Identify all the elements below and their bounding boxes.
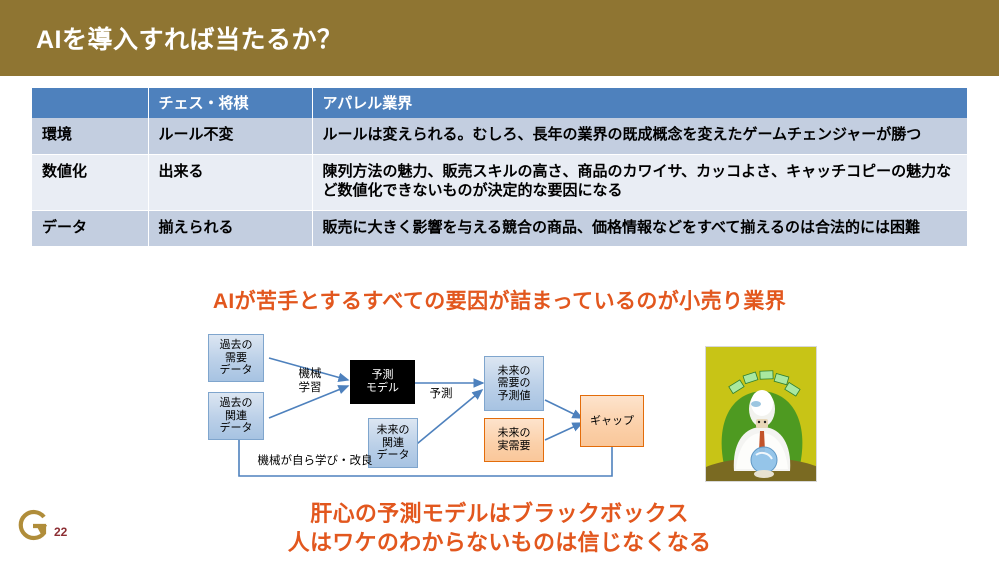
diagram-node-future-demand-forecast: 未来の 需要の 予測値 xyxy=(484,356,544,411)
emphasis-bottom-line1: 肝心の予測モデルはブラックボックス xyxy=(0,500,999,529)
table-row: 数値化 出来る 陳列方法の魅力、販売スキルの高さ、商品のカワイサ、カッコよさ、キ… xyxy=(32,154,967,210)
company-logo-icon xyxy=(14,508,50,542)
table-header-cell-blank xyxy=(32,88,148,118)
slide-canvas: AIを導入すれば当たるか？ チェス・将棋 アパレル業界 環境 ルール不変 ルール… xyxy=(0,0,999,561)
table-body: 環境 ルール不変 ルールは変えられる。むしろ、長年の業界の既成概念を変えたゲーム… xyxy=(32,118,967,247)
table-header: チェス・将棋 アパレル業界 xyxy=(32,88,967,118)
table-cell-apparel: 販売に大きく影響を与える競合の商品、価格情報などをすべて揃えるのは合法的には困難 xyxy=(312,210,967,247)
slide-title-bar: AIを導入すれば当たるか？ xyxy=(0,0,999,76)
clipart-illustration xyxy=(706,347,817,482)
diagram-label-prediction: 予測 xyxy=(424,388,458,402)
table-cell-apparel: 陳列方法の魅力、販売スキルの高さ、商品のカワイサ、カッコよさ、キャッチコピーの魅… xyxy=(312,154,967,210)
table-header-row: チェス・将棋 アパレル業界 xyxy=(32,88,967,118)
table-cell-chess: ルール不変 xyxy=(148,118,312,154)
footer-logo-area: 22 xyxy=(14,508,94,546)
prediction-flow-diagram: 過去の 需要 データ 過去の 関連 データ 予測 モデル 未来の 関連 データ … xyxy=(190,330,690,485)
table-header-cell-chess: チェス・将棋 xyxy=(148,88,312,118)
table-cell-apparel: ルールは変えられる。むしろ、長年の業界の既成概念を変えたゲームチェンジャーが勝つ xyxy=(312,118,967,154)
diagram-label-self-learning: 機械が自ら学び・改良 xyxy=(245,455,385,469)
comparison-table: チェス・将棋 アパレル業界 環境 ルール不変 ルールは変えられる。むしろ、長年の… xyxy=(32,88,967,247)
table-cell-category: 数値化 xyxy=(32,154,148,210)
diagram-node-gap: ギャップ xyxy=(580,395,644,447)
emphasis-bottom-line2: 人はワケのわからないものは信じなくなる xyxy=(0,529,999,558)
page-title: AIを導入すれば当たるか？ xyxy=(36,20,343,56)
diagram-label-machine-learning: 機械 学習 xyxy=(284,368,336,396)
diagram-node-past-demand: 過去の 需要 データ xyxy=(208,334,264,382)
table-cell-chess: 揃えられる xyxy=(148,210,312,247)
page-number: 22 xyxy=(54,525,67,539)
diagram-node-future-actual-demand: 未来の 実需要 xyxy=(484,418,544,462)
table-cell-category: データ xyxy=(32,210,148,247)
table-cell-category: 環境 xyxy=(32,118,148,154)
emphasis-bottom-text: 肝心の予測モデルはブラックボックス 人はワケのわからないものは信じなくなる xyxy=(0,500,999,557)
diagram-node-prediction-model: 予測 モデル xyxy=(350,360,415,404)
comparison-table-wrapper: チェス・将棋 アパレル業界 環境 ルール不変 ルールは変えられる。むしろ、長年の… xyxy=(32,88,967,247)
diagram-node-past-related: 過去の 関連 データ xyxy=(208,392,264,440)
table-cell-chess: 出来る xyxy=(148,154,312,210)
table-header-cell-apparel: アパレル業界 xyxy=(312,88,967,118)
table-row: データ 揃えられる 販売に大きく影響を与える競合の商品、価格情報などをすべて揃え… xyxy=(32,210,967,247)
fortune-teller-clipart xyxy=(705,346,817,482)
emphasis-middle-text: AIが苦手とするすべての要因が詰まっているのが小売り業界 xyxy=(0,285,999,315)
table-row: 環境 ルール不変 ルールは変えられる。むしろ、長年の業界の既成概念を変えたゲーム… xyxy=(32,118,967,154)
